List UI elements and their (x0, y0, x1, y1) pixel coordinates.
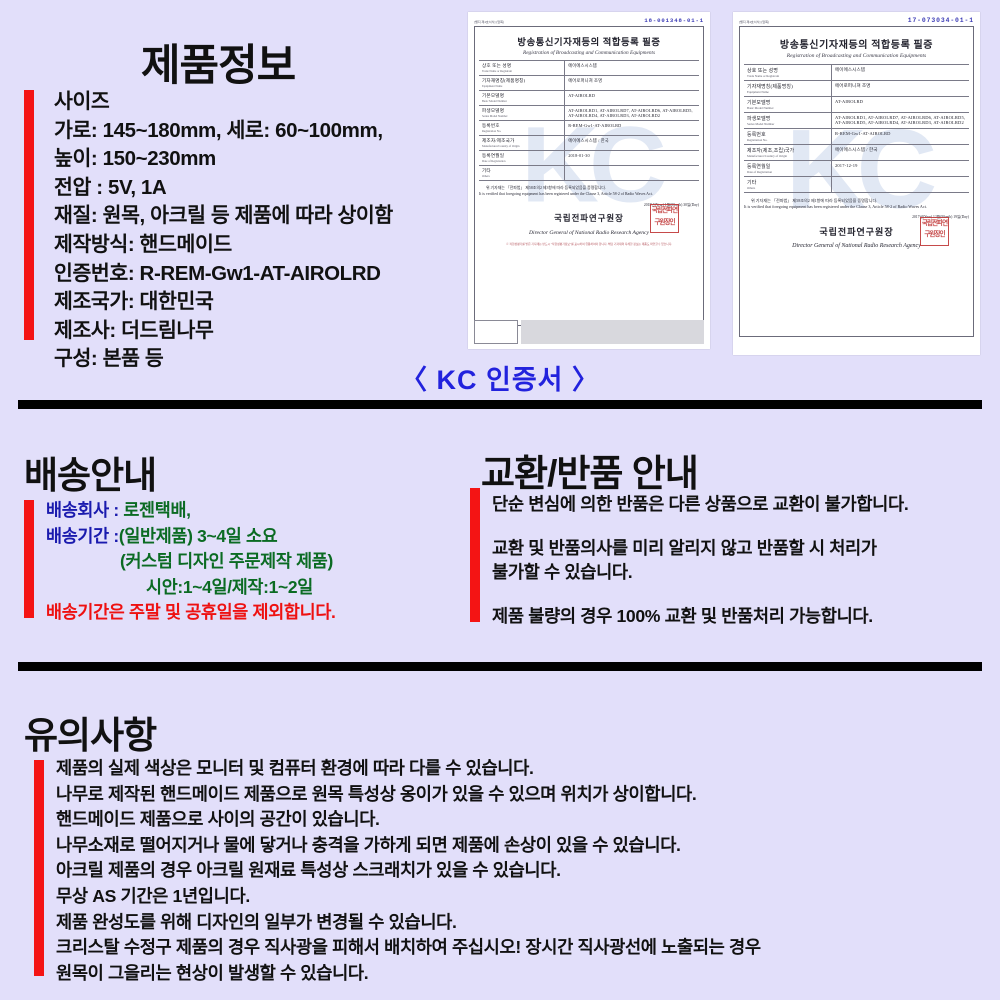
shipping-info-list: 배송회사 : 로젠택배,배송기간 :(일반제품) 3~4일 소요(커스텀 디자인… (46, 498, 336, 626)
product-spec-line: 제조사: 더드림나무 (54, 317, 393, 346)
kc-certificate-caption: 〈 KC 인증서 〉 (0, 358, 1000, 397)
cert-row-label: 등록번호Registration No. (744, 129, 832, 145)
cert-table-row: 기타Others (744, 177, 969, 193)
cert-row-value: 에이에스시스템 (832, 65, 970, 81)
cert-table-body: 상호 또는 성명Trade Name or Registrant에이에스시스템기… (744, 65, 969, 193)
cert-row-value: AT-AIROLRD1, AT-AIROLRD7, AT-AIROLRD6, A… (832, 113, 970, 129)
exchange-section-title: 교환/반품 안내 (481, 455, 698, 492)
shipping-section-title: 배송안내 (24, 457, 156, 494)
cert-table-row: 상호 또는 성명Trade Name or Registrant에이에스시스템 (479, 61, 699, 76)
cert-table: 상호 또는 성명Trade Name or Registrant에이에스시스템기… (744, 64, 969, 193)
cert-row-label: 파생모델명Series Model Number (479, 106, 565, 121)
cert-table-body: 상호 또는 성명Trade Name or Registrant에이에스시스템기… (479, 61, 699, 181)
cert-note-en: It is verified that foregoing equipment … (744, 204, 927, 209)
cert-table-row: 파생모델명Series Model NumberAT-AIROLRD1, AT-… (744, 113, 969, 129)
cert-doc-code: [별지 제4호서식] (앞쪽) (739, 19, 769, 24)
official-seal-icon: 국립전파연구원장인 (650, 204, 679, 233)
product-detail-page: 제품정보 사이즈가로: 145~180mm, 세로: 60~100mm,높이: … (0, 0, 1000, 1000)
section-divider-2 (18, 662, 982, 671)
official-seal-icon: 국립전파연구원장인 (920, 217, 949, 246)
accent-bar-exchange (470, 488, 480, 622)
cert-title-en: Registration of Broadcasting and Communi… (744, 53, 969, 59)
kc-certificate-2[interactable]: [별지 제4호서식] (앞쪽) 17-073034-01-1 KC 방송통신기자… (733, 12, 980, 355)
product-spec-line: 높이: 150~230mm (54, 145, 393, 174)
cert-table-row: 기본모델명Basic Model NumberAT-AIROLRD (479, 91, 699, 106)
cert-row-label: 기자재명칭(제품명칭)Equipment Name (744, 81, 832, 97)
product-spec-line: 가로: 145~180mm, 세로: 60~100mm, (54, 117, 393, 146)
cert-title-ko: 방송통신기자재등의 적합등록 필증 (744, 36, 969, 51)
cert-row-label: 기타Others (479, 166, 565, 181)
accent-bar-product (24, 90, 34, 340)
cert-table-row: 등록연월일Date of Registration2018-01-30 (479, 151, 699, 166)
cert-row-label: 제조자(제조,조립)국가Manufacturer/Country of Orig… (744, 145, 832, 161)
cert-table-row: 제조자(제조,조립)국가Manufacturer/Country of Orig… (744, 145, 969, 161)
cert-row-value: 에어로퍼니쳐 조명 (565, 76, 699, 91)
shipping-line-value: (일반제품) 3~4일 소요 (119, 526, 278, 546)
product-spec-line: 재질: 원목, 아크릴 등 제품에 따라 상이함 (54, 202, 393, 231)
cert-table-row: 등록번호Registration No.R-REM-Gw1-AT-AIROLRD (479, 121, 699, 136)
cert-row-label: 파생모델명Series Model Number (744, 113, 832, 129)
shipping-line: 배송회사 : 로젠택배, (46, 498, 336, 524)
exchange-line: 교환 및 반품의사를 미리 알리지 않고 반품할 시 처리가 (492, 536, 908, 560)
product-spec-line: 제작방식: 핸드메이드 (54, 231, 393, 260)
cert-row-label: 기타Others (744, 177, 832, 193)
shipping-line-value: (커스텀 디자인 주문제작 제품) (120, 551, 333, 571)
exchange-line: 단순 변심에 의한 반품은 다른 상품으로 교환이 불가합니다. (492, 492, 908, 516)
cert-row-label: 등록연월일Date of Registration (744, 161, 832, 177)
accent-bar-notice (34, 760, 44, 976)
notice-line: 나무로 제작된 핸드메이드 제품으로 원목 특성상 옹이가 있을 수 있으며 위… (56, 782, 761, 808)
cert-row-label: 상호 또는 성명Trade Name or Registrant (744, 65, 832, 81)
exchange-paragraph: 제품 불량의 경우 100% 교환 및 반품처리 가능합니다. (492, 604, 908, 628)
notice-section-title: 유의사항 (24, 717, 156, 754)
product-spec-line: 제조국가: 대한민국 (54, 288, 393, 317)
accent-bar-shipping (24, 500, 34, 618)
cert-table-row: 등록연월일Date of Registration2017-12-19 (744, 161, 969, 177)
shipping-line: 배송기간 :(일반제품) 3~4일 소요 (46, 524, 336, 550)
cert-row-value: AT-AIROLRD (565, 91, 699, 106)
cert-row-value: R-REM-Gw1-AT-AIROLRD (565, 121, 699, 136)
cert-row-label: 등록연월일Date of Registration (479, 151, 565, 166)
cert-table-row: 기타Others (479, 166, 699, 181)
cert-number: 17-073034-01-1 (908, 17, 974, 24)
cert-note-en: It is verified that foregoing equipment … (479, 192, 653, 196)
shipping-line-value: 배송기간은 주말 및 공휴일을 제외합니다. (46, 602, 336, 622)
shipping-line: 시안:1~4일/제작:1~2일 (46, 575, 336, 601)
cert-table-row: 기자재명칭(제품명칭)Equipment Name에어로퍼니쳐 조명 (744, 81, 969, 97)
cert-row-label: 제조자/제조국가Manufacturer/Country of Origin (479, 136, 565, 151)
cert-row-label: 기자재명칭(제품명칭)Equipment Name (479, 76, 565, 91)
shipping-line-value: 시안:1~4일/제작:1~2일 (146, 577, 313, 597)
notice-line: 나무소재로 떨어지거나 물에 닿거나 충격을 가하게 되면 제품에 손상이 있을… (56, 833, 761, 859)
exchange-policy-list: 단순 변심에 의한 반품은 다른 상품으로 교환이 불가합니다.교환 및 반품의… (492, 492, 908, 628)
notice-line: 원목이 그을리는 현상이 발생할 수 있습니다. (56, 961, 761, 987)
notice-line: 핸드메이드 제품으로 사이의 공간이 있습니다. (56, 807, 761, 833)
cert-table-row: 등록번호Registration No.R-REM-Gw1-AT-AIROLRD (744, 129, 969, 145)
exchange-line: 제품 불량의 경우 100% 교환 및 반품처리 가능합니다. (492, 604, 908, 628)
notice-line: 무상 AS 기간은 1년입니다. (56, 884, 761, 910)
cert-title-ko: 방송통신기자재등의 적합등록 필증 (479, 34, 699, 48)
cert-title-en: Registration of Broadcasting and Communi… (479, 50, 699, 56)
exchange-paragraph: 교환 및 반품의사를 미리 알리지 않고 반품할 시 처리가불가할 수 있습니다… (492, 536, 908, 584)
cert-row-value (565, 166, 699, 181)
exchange-paragraph: 단순 변심에 의한 반품은 다른 상품으로 교환이 불가합니다. (492, 492, 908, 516)
cert-number: 18-001348-01-1 (644, 17, 704, 24)
cert-row-label: 기본모델명Basic Model Number (479, 91, 565, 106)
shipping-line: (커스텀 디자인 주문제작 제품) (46, 549, 336, 575)
shipping-line: 배송기간은 주말 및 공휴일을 제외합니다. (46, 600, 336, 626)
cert-row-value: 2018-01-30 (565, 151, 699, 166)
shipping-line-label: 배송회사 : (46, 500, 119, 520)
cert-footer-box (474, 320, 518, 344)
cert-table: 상호 또는 성명Trade Name or Registrant에이에스시스템기… (479, 60, 699, 181)
cert-row-value: AT-AIROLRD1, AT-AIROLRD7, AT-AIROLRD6, A… (565, 106, 699, 121)
cert-row-label: 기본모델명Basic Model Number (744, 97, 832, 113)
notice-list: 제품의 실제 색상은 모니터 및 컴퓨터 환경에 따라 다를 수 있습니다.나무… (56, 756, 761, 986)
product-spec-line: 인증번호: R-REM-Gw1-AT-AIROLRD (54, 260, 393, 289)
shipping-line-label: 배송기간 : (46, 526, 119, 546)
product-spec-list: 사이즈가로: 145~180mm, 세로: 60~100mm,높이: 150~2… (54, 88, 393, 374)
section-divider-1 (18, 400, 982, 409)
cert-table-row: 기자재명칭(제품명칭)Equipment Name에어로퍼니쳐 조명 (479, 76, 699, 91)
cert-row-value: AT-AIROLRD (832, 97, 970, 113)
notice-line: 아크릴 제품의 경우 아크릴 원재료 특성상 스크래치가 있을 수 있습니다. (56, 858, 761, 884)
cert-fine-print: ※ 적합성평가를 받은 기자재는 반드시 "적합성평가정보"를 표시하여 유통하… (479, 243, 699, 247)
cert-row-value: R-REM-Gw1-AT-AIROLRD (832, 129, 970, 145)
cert-table-row: 파생모델명Series Model NumberAT-AIROLRD1, AT-… (479, 106, 699, 121)
cert-row-value: 에어로퍼니쳐 조명 (832, 81, 970, 97)
product-spec-line: 전압 : 5V, 1A (54, 174, 393, 203)
kc-certificate-1[interactable]: [별지 제4호서식] (앞쪽) 18-001348-01-1 KC 방송통신기자… (468, 12, 710, 349)
cert-row-value: 2017-12-19 (832, 161, 970, 177)
cert-row-value: 에이에스시스템 / 한국 (832, 145, 970, 161)
notice-line: 제품 완성도를 위해 디자인의 일부가 변경될 수 있습니다. (56, 910, 761, 936)
cert-footer-bar (521, 320, 704, 344)
notice-line: 제품의 실제 색상은 모니터 및 컴퓨터 환경에 따라 다를 수 있습니다. (56, 756, 761, 782)
product-spec-line: 사이즈 (54, 88, 393, 117)
cert-row-label: 등록번호Registration No. (479, 121, 565, 136)
cert-row-value: 에이에스시스템 / 한국 (565, 136, 699, 151)
cert-footer-strip (474, 320, 704, 344)
cert-table-row: 상호 또는 성명Trade Name or Registrant에이에스시스템 (744, 65, 969, 81)
notice-line: 크리스탈 수정구 제품의 경우 직사광을 피해서 배치하여 주십시오! 장시간 … (56, 935, 761, 961)
exchange-line: 불가할 수 있습니다. (492, 560, 908, 584)
cert-table-row: 기본모델명Basic Model NumberAT-AIROLRD (744, 97, 969, 113)
cert-row-value (832, 177, 970, 193)
cert-table-row: 제조자/제조국가Manufacturer/Country of Origin에이… (479, 136, 699, 151)
shipping-line-value: 로젠택배, (119, 500, 191, 520)
cert-doc-code: [별지 제4호서식] (앞쪽) (474, 19, 504, 24)
cert-row-label: 상호 또는 성명Trade Name or Registrant (479, 61, 565, 76)
page-title: 제품정보 (141, 45, 295, 88)
cert-row-value: 에이에스시스템 (565, 61, 699, 76)
